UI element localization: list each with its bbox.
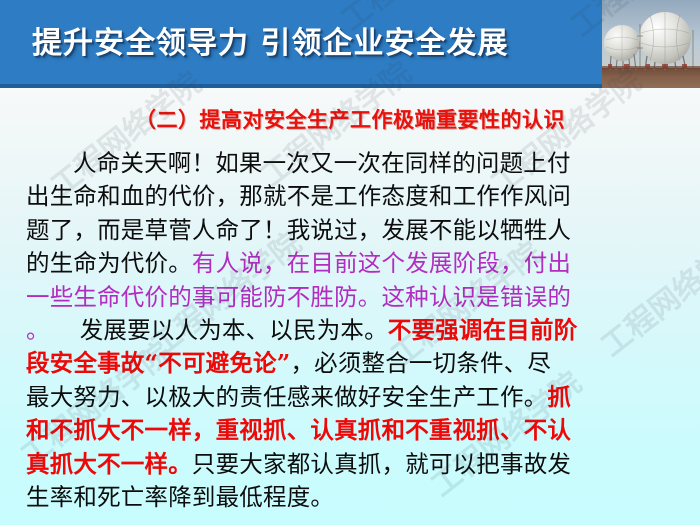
body-text-run-black: 生率和死亡率降到最低程度。 — [26, 483, 334, 511]
body-line: 真抓大不一样。只要大家都认真抓，就可以把事故发 — [26, 448, 678, 481]
body-line: 段安全事故“不可避免论”，必须整合一切条件、尽 — [26, 347, 678, 380]
body-text-run-red: 抓 — [547, 383, 571, 411]
body-text-run-purple: 有人说，在目前这个发展阶段，付出 — [192, 249, 571, 277]
body-line: 一些生命代价的事可能防不胜防。这种认识是错误的 — [26, 281, 678, 314]
section-subtitle: （二）提高对安全生产工作极端重要性的认识 — [0, 104, 700, 134]
body-text-run-black: 最大努力、以极大的责任感来做好安全生产工作。 — [26, 383, 547, 411]
body-line: 生率和死亡率降到最低程度。 — [26, 481, 678, 514]
slide-canvas: 提升安全领导力 引领企业安全发展 — [0, 0, 700, 525]
body-text-run-purple: 一些生命代价的事可能防不胜防。这种认识是错误的 — [26, 283, 571, 311]
body-text-run-black: 的生命为代价。 — [26, 249, 192, 277]
body-text-run-red: 真抓大不一样。 — [26, 450, 192, 478]
page-title: 提升安全领导力 引领企业安全发展 — [32, 18, 592, 62]
body-line: 和不抓大不一样，重视抓、认真抓和不重视抓、不认 — [26, 414, 678, 447]
body-line: 出生命和血的代价，那就不是工作态度和工作作风问 — [26, 180, 678, 213]
body-text-run-red: 和不抓大不一样，重视抓、认真抓和不重视抓、不认 — [26, 416, 571, 444]
body-text-run-red: 段安全事故“不可避免论” — [26, 349, 290, 377]
body-text-run-purple: 。 — [26, 316, 50, 344]
body-text-run-black: 题了，而是草菅人命了！我说过，发展不能以牺牲人 — [26, 216, 571, 244]
body-line: 。发展要以人为本、以民为本。不要强调在目前阶 — [26, 314, 678, 347]
body-text-run-black: 人命关天啊！如果一次又一次在同样的问题上付 — [73, 149, 571, 177]
body-text-run-red: 不要强调在目前阶 — [388, 316, 578, 344]
header-bar: 提升安全领导力 引领企业安全发展 — [0, 0, 700, 88]
body-line: 题了，而是草菅人命了！我说过，发展不能以牺牲人 — [26, 214, 678, 247]
body-line: 的生命为代价。有人说，在目前这个发展阶段，付出 — [26, 247, 678, 280]
body-text-run-black: 只要大家都认真抓，就可以把事故发 — [192, 450, 571, 478]
body-line: 最大努力、以极大的责任感来做好安全生产工作。抓 — [26, 381, 678, 414]
body-text-run-black: 出生命和血的代价，那就不是工作态度和工作作风问 — [26, 182, 571, 210]
body-text-run-black: 发展要以人为本、以民为本。 — [80, 316, 388, 344]
body-text-block: 人命关天啊！如果一次又一次在同样的问题上付出生命和血的代价，那就不是工作态度和工… — [26, 147, 678, 514]
storage-tank-photo — [602, 0, 700, 88]
body-text-run-black: ，必须整合一切条件、尽 — [290, 349, 551, 377]
body-line: 人命关天啊！如果一次又一次在同样的问题上付 — [26, 147, 678, 180]
storage-tank-illustration — [602, 0, 700, 88]
